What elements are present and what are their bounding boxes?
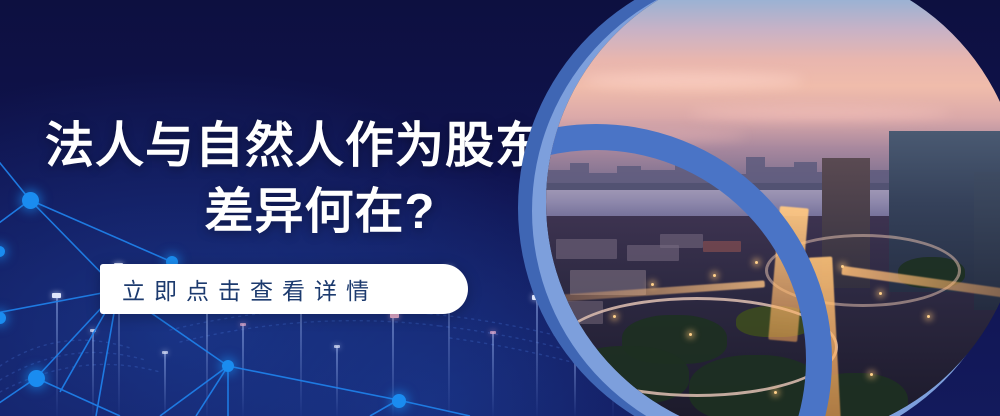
cloud <box>584 73 803 87</box>
cta-button-label: 立即点击查看详情 <box>100 272 378 306</box>
network-node <box>392 394 406 408</box>
network-node <box>28 370 45 387</box>
network-node <box>222 360 234 372</box>
cta-button[interactable]: 立即点击查看详情 <box>100 264 468 314</box>
city-photo <box>546 0 1000 416</box>
circular-photo-module <box>518 0 1000 416</box>
cloud <box>689 107 951 119</box>
promo-banner: 法人与自然人作为股东： 差异何在? 立即点击查看详情 <box>0 0 1000 416</box>
